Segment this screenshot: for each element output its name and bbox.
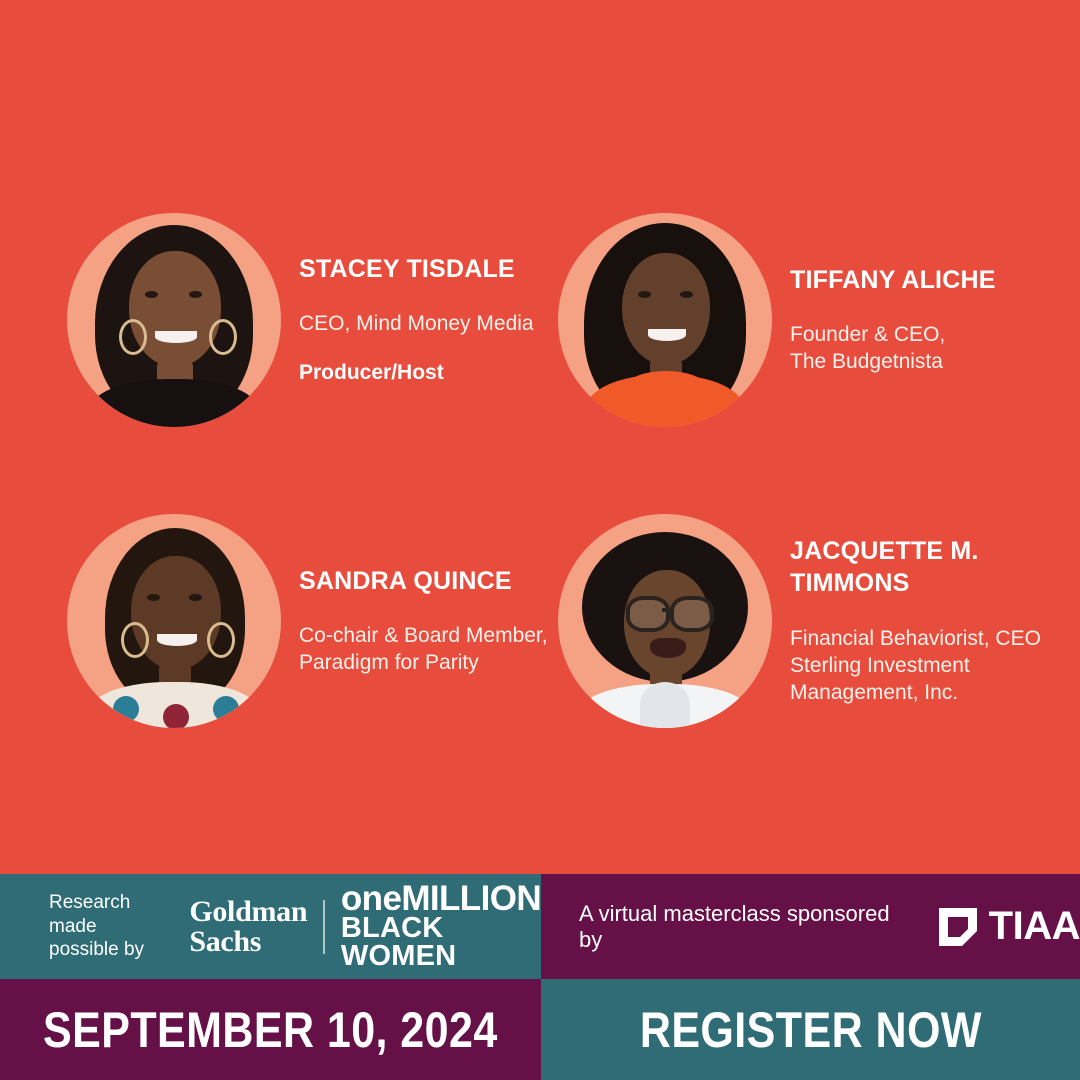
sponsor-band: Research made possible by Goldman Sachs …	[0, 874, 1080, 979]
research-label: Research made possible by	[49, 891, 159, 962]
speaker-info: TIFFANY ALICHE Founder & CEO, The Budget…	[790, 243, 996, 396]
one-million-black-women-logo: oneMILLION BLACK WOMEN	[341, 882, 541, 971]
cta-bar: SEPTEMBER 10, 2024 REGISTER NOW	[0, 979, 1080, 1080]
portrait-illustration	[67, 514, 281, 728]
speaker-name: STACEY TISDALE	[299, 253, 534, 285]
event-date-panel: SEPTEMBER 10, 2024	[0, 979, 541, 1080]
speaker-portrait-sandra-quince	[67, 514, 281, 728]
speaker-card: SANDRA QUINCE Co-chair & Board Member, P…	[67, 514, 548, 728]
register-now-button[interactable]: REGISTER NOW	[541, 979, 1080, 1080]
speaker-role: Founder & CEO, The Budgetnista	[790, 322, 996, 376]
speaker-tag: Producer/Host	[299, 360, 534, 387]
speaker-role: Financial Behaviorist, CEO Sterling Inve…	[790, 626, 1080, 707]
speakers-grid: STACEY TISDALE CEO, Mind Money Media Pro…	[0, 0, 1080, 874]
omw-top-line: oneMILLION	[341, 882, 541, 916]
event-date-text: SEPTEMBER 10, 2024	[43, 1001, 498, 1059]
masterclass-sponsor-panel: A virtual masterclass sponsored by TIAA	[541, 874, 1080, 979]
portrait-illustration	[558, 514, 772, 728]
tiaa-mark-icon	[936, 905, 980, 949]
speaker-name: SANDRA QUINCE	[299, 565, 548, 597]
speaker-role: Co-chair & Board Member, Paradigm for Pa…	[299, 623, 548, 677]
logo-divider	[323, 900, 325, 954]
speaker-card: STACEY TISDALE CEO, Mind Money Media Pro…	[67, 213, 534, 427]
promo-poster: STACEY TISDALE CEO, Mind Money Media Pro…	[0, 0, 1080, 1080]
goldman-sachs-logo: Goldman Sachs	[189, 897, 307, 957]
speaker-name: TIFFANY ALICHE	[790, 264, 996, 296]
research-sponsor-panel: Research made possible by Goldman Sachs …	[0, 874, 541, 979]
speaker-portrait-tiffany-aliche	[558, 213, 772, 427]
portrait-illustration	[558, 213, 772, 427]
register-now-text: REGISTER NOW	[639, 1001, 981, 1059]
speaker-name: JACQUETTE M. TIMMONS	[790, 535, 1080, 599]
omw-black-women-text: BLACK WOMEN	[341, 915, 541, 971]
speaker-role: CEO, Mind Money Media	[299, 311, 534, 338]
speaker-portrait-jacquette-timmons	[558, 514, 772, 728]
speaker-card: JACQUETTE M. TIMMONS Financial Behaviori…	[558, 514, 1080, 728]
tiaa-wordmark: TIAA	[989, 904, 1080, 949]
masterclass-label: A virtual masterclass sponsored by	[579, 901, 918, 953]
tiaa-logo: TIAA	[936, 904, 1080, 949]
speaker-info: JACQUETTE M. TIMMONS Financial Behaviori…	[790, 515, 1080, 727]
speaker-portrait-stacey-tisdale	[67, 213, 281, 427]
speaker-info: SANDRA QUINCE Co-chair & Board Member, P…	[299, 544, 548, 697]
portrait-illustration	[67, 213, 281, 427]
speaker-info: STACEY TISDALE CEO, Mind Money Media Pro…	[299, 232, 534, 408]
speaker-card: TIFFANY ALICHE Founder & CEO, The Budget…	[558, 213, 996, 427]
